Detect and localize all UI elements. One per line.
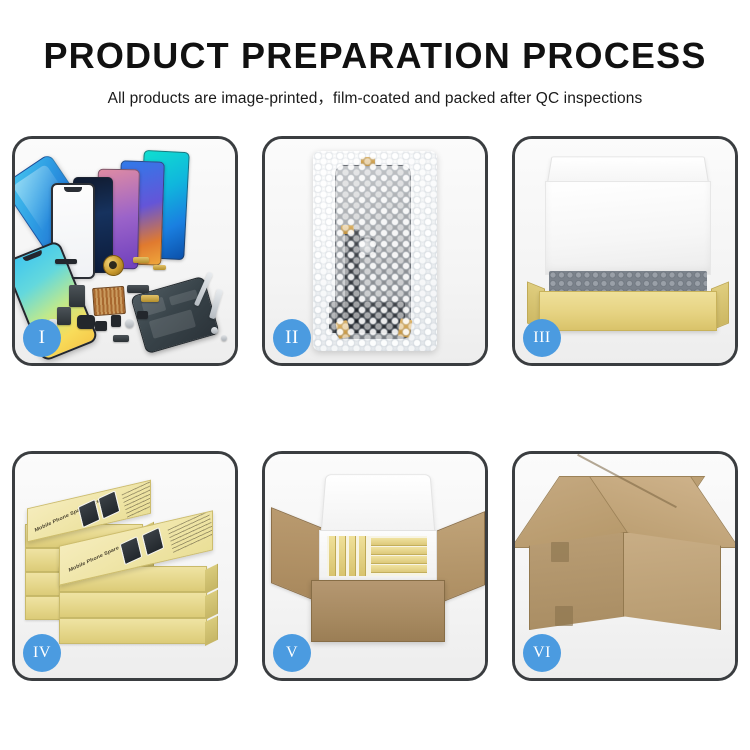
part-icon xyxy=(127,285,149,293)
stacked-box xyxy=(59,618,207,644)
foam-sheet-icon xyxy=(545,181,711,275)
page-title: PRODUCT PREPARATION PROCESS xyxy=(0,38,750,74)
part-icon xyxy=(69,285,85,307)
part-icon xyxy=(137,311,148,319)
box-label-phone-image xyxy=(120,536,143,565)
bubble-texture xyxy=(313,151,437,351)
part-icon xyxy=(111,315,121,327)
carton-tape-icon xyxy=(551,542,569,562)
screw-icon xyxy=(211,327,218,334)
carton-tape-icon xyxy=(555,606,573,626)
step-panel-4[interactable]: Mobile Phone Spare Parts Mobile Phone Sp… xyxy=(12,451,238,681)
step-panel-2[interactable]: II xyxy=(262,136,488,366)
bubble-wrap-bag-icon xyxy=(313,151,437,351)
process-step-grid: I II I xyxy=(12,136,738,681)
part-icon xyxy=(77,315,95,329)
step-panel-5[interactable]: V xyxy=(262,451,488,681)
part-icon xyxy=(95,321,107,331)
step-badge-1: I xyxy=(23,319,61,357)
page-header: PRODUCT PREPARATION PROCESS All products… xyxy=(0,0,750,108)
step-badge-6: VI xyxy=(523,634,561,672)
carton-right-face xyxy=(623,532,721,630)
yellow-box-front-icon xyxy=(539,291,717,331)
step-panel-3[interactable]: III xyxy=(512,136,738,366)
box-label-spec-lines xyxy=(168,511,213,554)
step-panel-6[interactable]: VI xyxy=(512,451,738,681)
page-subtitle: All products are image-printed，film-coat… xyxy=(0,86,750,108)
carton-front-icon xyxy=(311,580,445,642)
foam-cooler-lid-icon xyxy=(320,474,435,536)
box-label-spec-lines xyxy=(122,480,151,519)
part-icon xyxy=(133,257,149,263)
step-panel-1[interactable]: I xyxy=(12,136,238,366)
part-icon xyxy=(125,319,134,328)
part-icon xyxy=(113,335,129,342)
box-label-phone-image xyxy=(142,527,165,556)
carton-left-face xyxy=(529,532,627,630)
part-icon xyxy=(57,307,71,325)
box-label-phone-image xyxy=(98,490,121,519)
packed-boxes-icon xyxy=(327,536,427,576)
step-badge-2: II xyxy=(273,319,311,357)
logic-board-icon xyxy=(92,286,126,316)
step-badge-3: III xyxy=(523,319,561,357)
part-icon xyxy=(55,259,77,264)
part-icon xyxy=(141,295,159,302)
step-badge-4: IV xyxy=(23,634,61,672)
box-stack-icon: Mobile Phone Spare Parts Mobile Phone Sp… xyxy=(25,472,225,662)
part-icon xyxy=(153,265,166,270)
stacked-box xyxy=(59,592,207,618)
screw-icon xyxy=(221,335,227,341)
step-badge-5: V xyxy=(273,634,311,672)
